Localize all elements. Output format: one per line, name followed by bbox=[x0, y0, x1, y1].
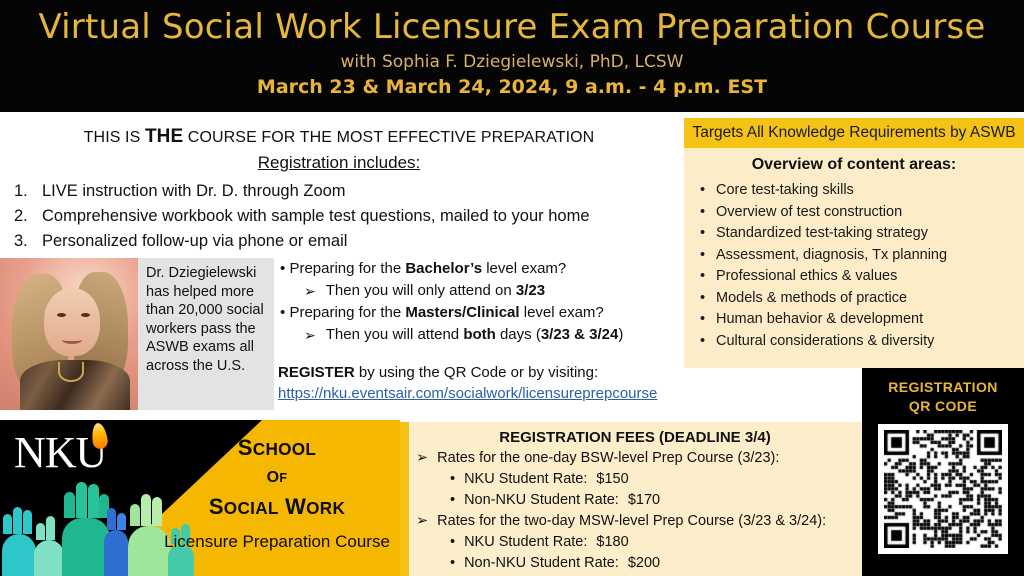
registration-includes-list: 1. LIVE instruction with Dr. D. through … bbox=[14, 179, 678, 254]
list-item-number: 1. bbox=[14, 179, 32, 204]
list-item-label: Assessment, diagnosis, Tx planning bbox=[716, 245, 947, 267]
fee-group-heading-label: Rates for the one-day BSW-level Prep Cou… bbox=[437, 448, 779, 469]
list-item: 2. Comprehensive workbook with sample te… bbox=[14, 204, 678, 229]
fee-rate-amount: $200 bbox=[628, 553, 660, 574]
aswb-panel-header: Targets All Knowledge Requirements by AS… bbox=[684, 118, 1024, 148]
portrait-smile bbox=[62, 336, 82, 344]
qr-panel-title-line1: REGISTRATION bbox=[862, 368, 1024, 397]
registration-includes-text: Registration includes: bbox=[258, 153, 421, 172]
list-item-number: 2. bbox=[14, 204, 32, 229]
list-item-label: Overview of test construction bbox=[716, 202, 902, 224]
fee-rate-row: • NKU Student Rate: $180 bbox=[414, 532, 856, 553]
hand-shape bbox=[104, 530, 128, 576]
bullet-icon: • bbox=[700, 245, 706, 267]
list-item: •Overview of test construction bbox=[700, 202, 1024, 224]
register-instruction-text: by using the QR Code or by visiting: bbox=[355, 364, 598, 381]
fee-rate-label: NKU Student Rate: bbox=[464, 469, 587, 490]
hand-shape bbox=[34, 540, 64, 576]
nku-school-line2: OF bbox=[162, 465, 392, 491]
bullet-icon: • bbox=[450, 532, 455, 553]
list-item-label: Personalized follow-up via phone or emai… bbox=[42, 229, 347, 254]
bachelors-answer-text: Then you will only attend on 3/23 bbox=[326, 280, 545, 302]
arrow-icon: ➢ bbox=[416, 511, 428, 532]
bullet-icon: • bbox=[700, 309, 706, 331]
bullet-icon: • bbox=[700, 288, 706, 310]
masters-answer-prefix: Then you will attend bbox=[326, 326, 464, 343]
fee-rate-label: Non-NKU Student Rate: bbox=[464, 553, 619, 574]
bachelors-suffix: level exam? bbox=[482, 260, 566, 277]
list-item: •Models & methods of practice bbox=[700, 288, 1024, 310]
bullet-icon: • bbox=[280, 304, 285, 321]
portrait-eye-right bbox=[81, 313, 90, 317]
fee-group-heading: ➢ Rates for the one-day BSW-level Prep C… bbox=[414, 448, 856, 469]
arrow-icon: ➢ bbox=[304, 324, 316, 346]
bullet-icon: • bbox=[700, 266, 706, 288]
presenter-name: with Sophia F. Dziegielewski, PhD, LCSW bbox=[0, 50, 1024, 74]
aswb-topics-list: •Core test-taking skills •Overview of te… bbox=[684, 180, 1024, 352]
list-item: •Human behavior & development bbox=[700, 309, 1024, 331]
nku-course-subtitle: Licensure Preparation Course bbox=[162, 528, 392, 556]
portrait-necklace bbox=[58, 362, 84, 382]
flyer-header: Virtual Social Work Licensure Exam Prepa… bbox=[0, 0, 1024, 112]
intro-headline-suffix: COURSE FOR THE MOST EFFECTIVE PREPARATIO… bbox=[183, 129, 594, 146]
aswb-panel-subheader: Overview of content areas: bbox=[684, 148, 1024, 180]
flyer-root: Virtual Social Work Licensure Exam Prepa… bbox=[0, 0, 1024, 576]
bachelors-answer-date: 3/23 bbox=[516, 282, 545, 299]
fee-rate-label: Non-NKU Student Rate: bbox=[464, 490, 619, 511]
fee-rate-row: • NKU Student Rate: $150 bbox=[414, 469, 856, 490]
masters-suffix: level exam? bbox=[520, 304, 604, 321]
bachelors-prefix: Preparing for the bbox=[289, 260, 405, 277]
list-item-number: 3. bbox=[14, 229, 32, 254]
fee-rate-amount: $180 bbox=[596, 532, 628, 553]
intro-section: THIS IS THE COURSE FOR THE MOST EFFECTIV… bbox=[0, 116, 678, 252]
portrait-face bbox=[44, 288, 100, 356]
list-item: 3. Personalized follow-up via phone or e… bbox=[14, 229, 678, 254]
fee-group-heading-label: Rates for the two-day MSW-level Prep Cou… bbox=[437, 511, 826, 532]
masters-answer-text: Then you will attend both days (3/23 & 3… bbox=[326, 324, 624, 346]
fee-group-heading: ➢ Rates for the two-day MSW-level Prep C… bbox=[414, 511, 856, 532]
qr-panel-title-line2: QR CODE bbox=[862, 397, 1024, 416]
hand-shape bbox=[2, 534, 36, 576]
bullet-icon: • bbox=[700, 202, 706, 224]
nku-school-line1: SCHOOL bbox=[162, 432, 392, 465]
register-label: REGISTER bbox=[278, 364, 355, 381]
registration-fees-panel: REGISTRATION FEES (DEADLINE 3/4) ➢ Rates… bbox=[400, 422, 862, 576]
bullet-icon: • bbox=[450, 469, 455, 490]
list-item-label: Professional ethics & values bbox=[716, 266, 897, 288]
masters-emphasis: Masters/Clinical bbox=[405, 304, 519, 321]
exam-path-masters-answer: ➢ Then you will attend both days (3/23 &… bbox=[278, 324, 678, 346]
exam-path-masters-question: • Preparing for the Masters/Clinical lev… bbox=[278, 302, 678, 324]
avatar bbox=[0, 258, 138, 410]
event-dates: March 23 & March 24, 2024, 9 a.m. - 4 p.… bbox=[0, 74, 1024, 100]
bullet-icon: • bbox=[280, 260, 285, 277]
list-item: •Assessment, diagnosis, Tx planning bbox=[700, 245, 1024, 267]
page-title: Virtual Social Work Licensure Exam Prepa… bbox=[0, 0, 1024, 50]
fees-content: REGISTRATION FEES (DEADLINE 3/4) ➢ Rates… bbox=[400, 422, 862, 574]
list-item-label: Cultural considerations & diversity bbox=[716, 331, 934, 353]
fees-accent-bar bbox=[400, 422, 409, 576]
exam-path-bachelors-question: • Preparing for the Bachelor’s level exa… bbox=[278, 258, 678, 280]
hand-shape bbox=[62, 518, 110, 576]
fee-rate-row: • Non-NKU Student Rate: $170 bbox=[414, 490, 856, 511]
instructor-bio-block: Dr. Dziegielewski has helped more than 2… bbox=[0, 258, 274, 410]
registration-includes-label: Registration includes: bbox=[0, 151, 678, 175]
fee-rate-amount: $170 bbox=[628, 490, 660, 511]
bullet-icon: • bbox=[700, 331, 706, 353]
intro-headline-prefix: THIS IS bbox=[84, 129, 145, 146]
bullet-icon: • bbox=[450, 553, 455, 574]
bachelors-answer-prefix: Then you will only attend on bbox=[326, 282, 516, 299]
masters-answer-both: both bbox=[463, 326, 495, 343]
nku-school-line3: SOCIAL WORK bbox=[162, 491, 392, 524]
list-item-label: Core test-taking skills bbox=[716, 180, 854, 202]
list-item-label: Human behavior & development bbox=[716, 309, 923, 331]
list-item: 1. LIVE instruction with Dr. D. through … bbox=[14, 179, 678, 204]
list-item: •Professional ethics & values bbox=[700, 266, 1024, 288]
exam-path-section: • Preparing for the Bachelor’s level exa… bbox=[278, 258, 678, 410]
list-item: •Standardized test-taking strategy bbox=[700, 223, 1024, 245]
list-item: •Cultural considerations & diversity bbox=[700, 331, 1024, 353]
registration-link[interactable]: https://nku.eventsair.com/socialwork/lic… bbox=[278, 383, 657, 404]
bullet-icon: • bbox=[450, 490, 455, 511]
qr-code-image[interactable] bbox=[878, 424, 1008, 554]
masters-answer-suffix: ) bbox=[618, 326, 623, 343]
nku-logo: NKU bbox=[14, 426, 144, 480]
instructor-bio-text: Dr. Dziegielewski has helped more than 2… bbox=[138, 258, 274, 410]
list-item: •Core test-taking skills bbox=[700, 180, 1024, 202]
list-item-label: Comprehensive workbook with sample test … bbox=[42, 204, 590, 229]
masters-answer-mid: days ( bbox=[496, 326, 541, 343]
list-item-label: LIVE instruction with Dr. D. through Zoo… bbox=[42, 179, 346, 204]
fee-rate-label: NKU Student Rate: bbox=[464, 532, 587, 553]
arrow-icon: ➢ bbox=[304, 280, 316, 302]
masters-prefix: Preparing for the bbox=[289, 304, 405, 321]
nku-school-banner: NKU bbox=[0, 420, 400, 576]
arrow-icon: ➢ bbox=[416, 448, 428, 469]
fee-rate-amount: $150 bbox=[596, 469, 628, 490]
exam-path-bachelors-answer: ➢ Then you will only attend on 3/23 bbox=[278, 280, 678, 302]
intro-headline: THIS IS THE COURSE FOR THE MOST EFFECTIV… bbox=[0, 116, 678, 149]
bullet-icon: • bbox=[700, 180, 706, 202]
qr-code-panel: REGISTRATION QR CODE bbox=[862, 368, 1024, 576]
qr-code-canvas bbox=[884, 430, 1002, 548]
list-item-label: Standardized test-taking strategy bbox=[716, 223, 928, 245]
aswb-content-panel: Targets All Knowledge Requirements by AS… bbox=[684, 118, 1024, 368]
list-item-label: Models & methods of practice bbox=[716, 288, 907, 310]
fees-title: REGISTRATION FEES (DEADLINE 3/4) bbox=[414, 427, 856, 448]
fee-rate-row: • Non-NKU Student Rate: $200 bbox=[414, 553, 856, 574]
nku-banner-text: SCHOOL OF SOCIAL WORK Licensure Preparat… bbox=[162, 432, 392, 556]
register-instruction: REGISTER by using the QR Code or by visi… bbox=[278, 362, 678, 383]
masters-answer-dates: 3/23 & 3/24 bbox=[541, 326, 619, 343]
intro-headline-emphasis: THE bbox=[145, 126, 183, 147]
portrait-eye-left bbox=[57, 313, 66, 317]
bachelors-emphasis: Bachelor’s bbox=[405, 260, 482, 277]
bullet-icon: • bbox=[700, 223, 706, 245]
